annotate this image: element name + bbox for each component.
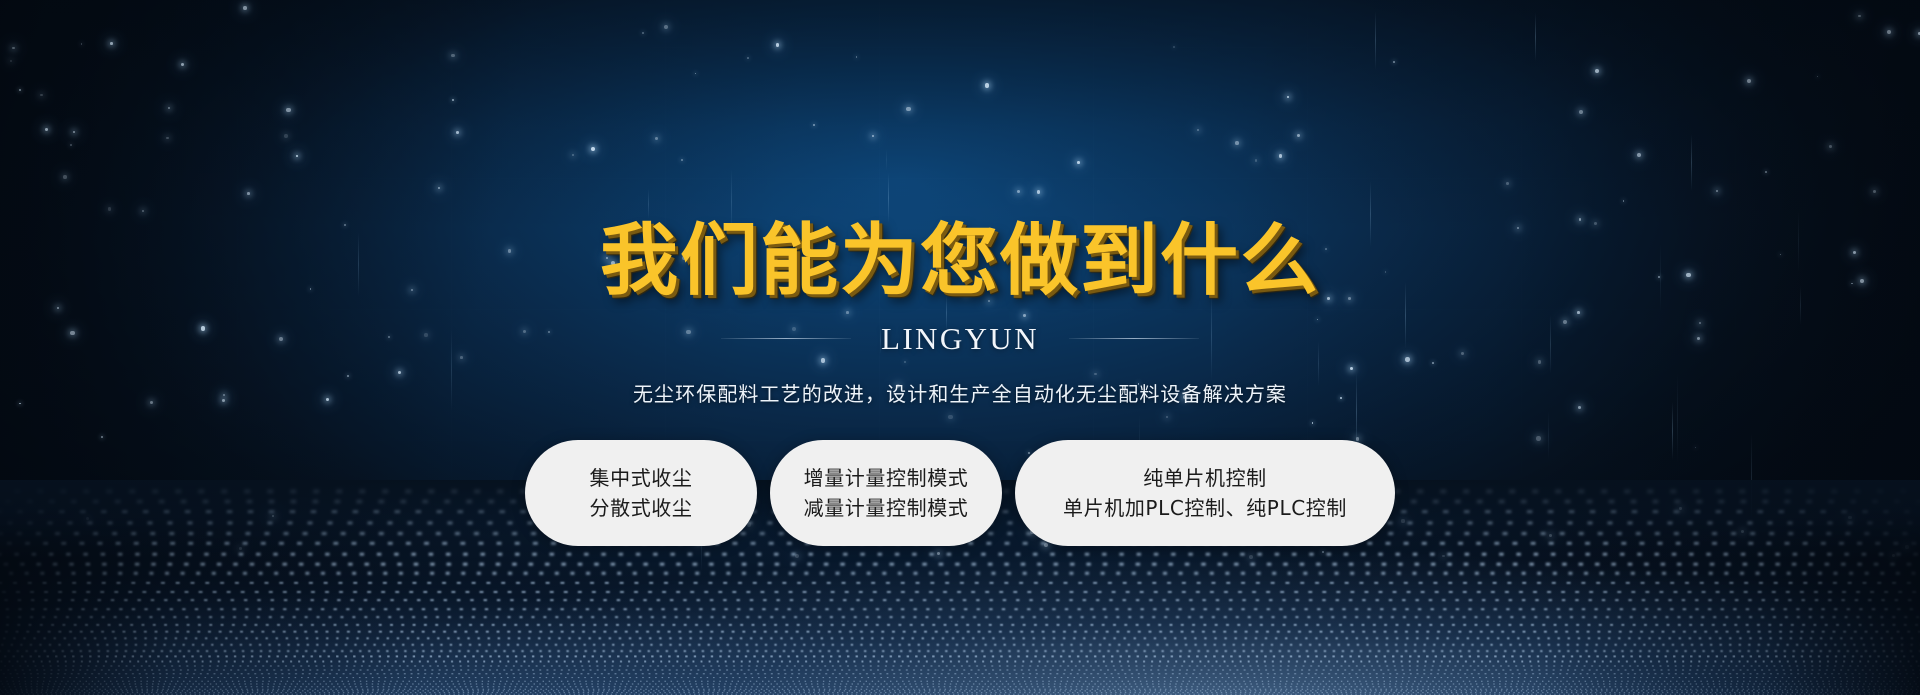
brand-name-en: LINGYUN xyxy=(881,323,1039,354)
card-line: 单片机加PLC控制、纯PLC控制 xyxy=(1063,498,1347,518)
feature-card-metering-mode[interactable]: 增量计量控制模式 减量计量控制模式 xyxy=(770,440,1002,546)
feature-card-collection[interactable]: 集中式收尘 分散式收尘 xyxy=(525,440,757,546)
card-line: 减量计量控制模式 xyxy=(804,498,969,518)
card-line: 纯单片机控制 xyxy=(1143,468,1267,488)
page-title: 我们能为您做到什么 xyxy=(600,222,1320,300)
hero-banner: 我们能为您做到什么 LINGYUN 无尘环保配料工艺的改进，设计和生产全自动化无… xyxy=(0,0,1920,695)
card-line: 集中式收尘 xyxy=(590,468,693,488)
banner-description: 无尘环保配料工艺的改进，设计和生产全自动化无尘配料设备解决方案 xyxy=(633,378,1287,407)
card-line: 增量计量控制模式 xyxy=(804,468,969,488)
card-line: 分散式收尘 xyxy=(590,498,693,518)
feature-card-list: 集中式收尘 分散式收尘 增量计量控制模式 减量计量控制模式 纯单片机控制 单片机… xyxy=(525,440,1395,546)
feature-card-control-system[interactable]: 纯单片机控制 单片机加PLC控制、纯PLC控制 xyxy=(1015,440,1395,546)
divider-right-icon xyxy=(1069,338,1199,339)
divider-left-icon xyxy=(721,338,851,339)
banner-content: 我们能为您做到什么 LINGYUN 无尘环保配料工艺的改进，设计和生产全自动化无… xyxy=(0,0,1920,695)
brand-subtitle-row: LINGYUN xyxy=(721,323,1199,354)
